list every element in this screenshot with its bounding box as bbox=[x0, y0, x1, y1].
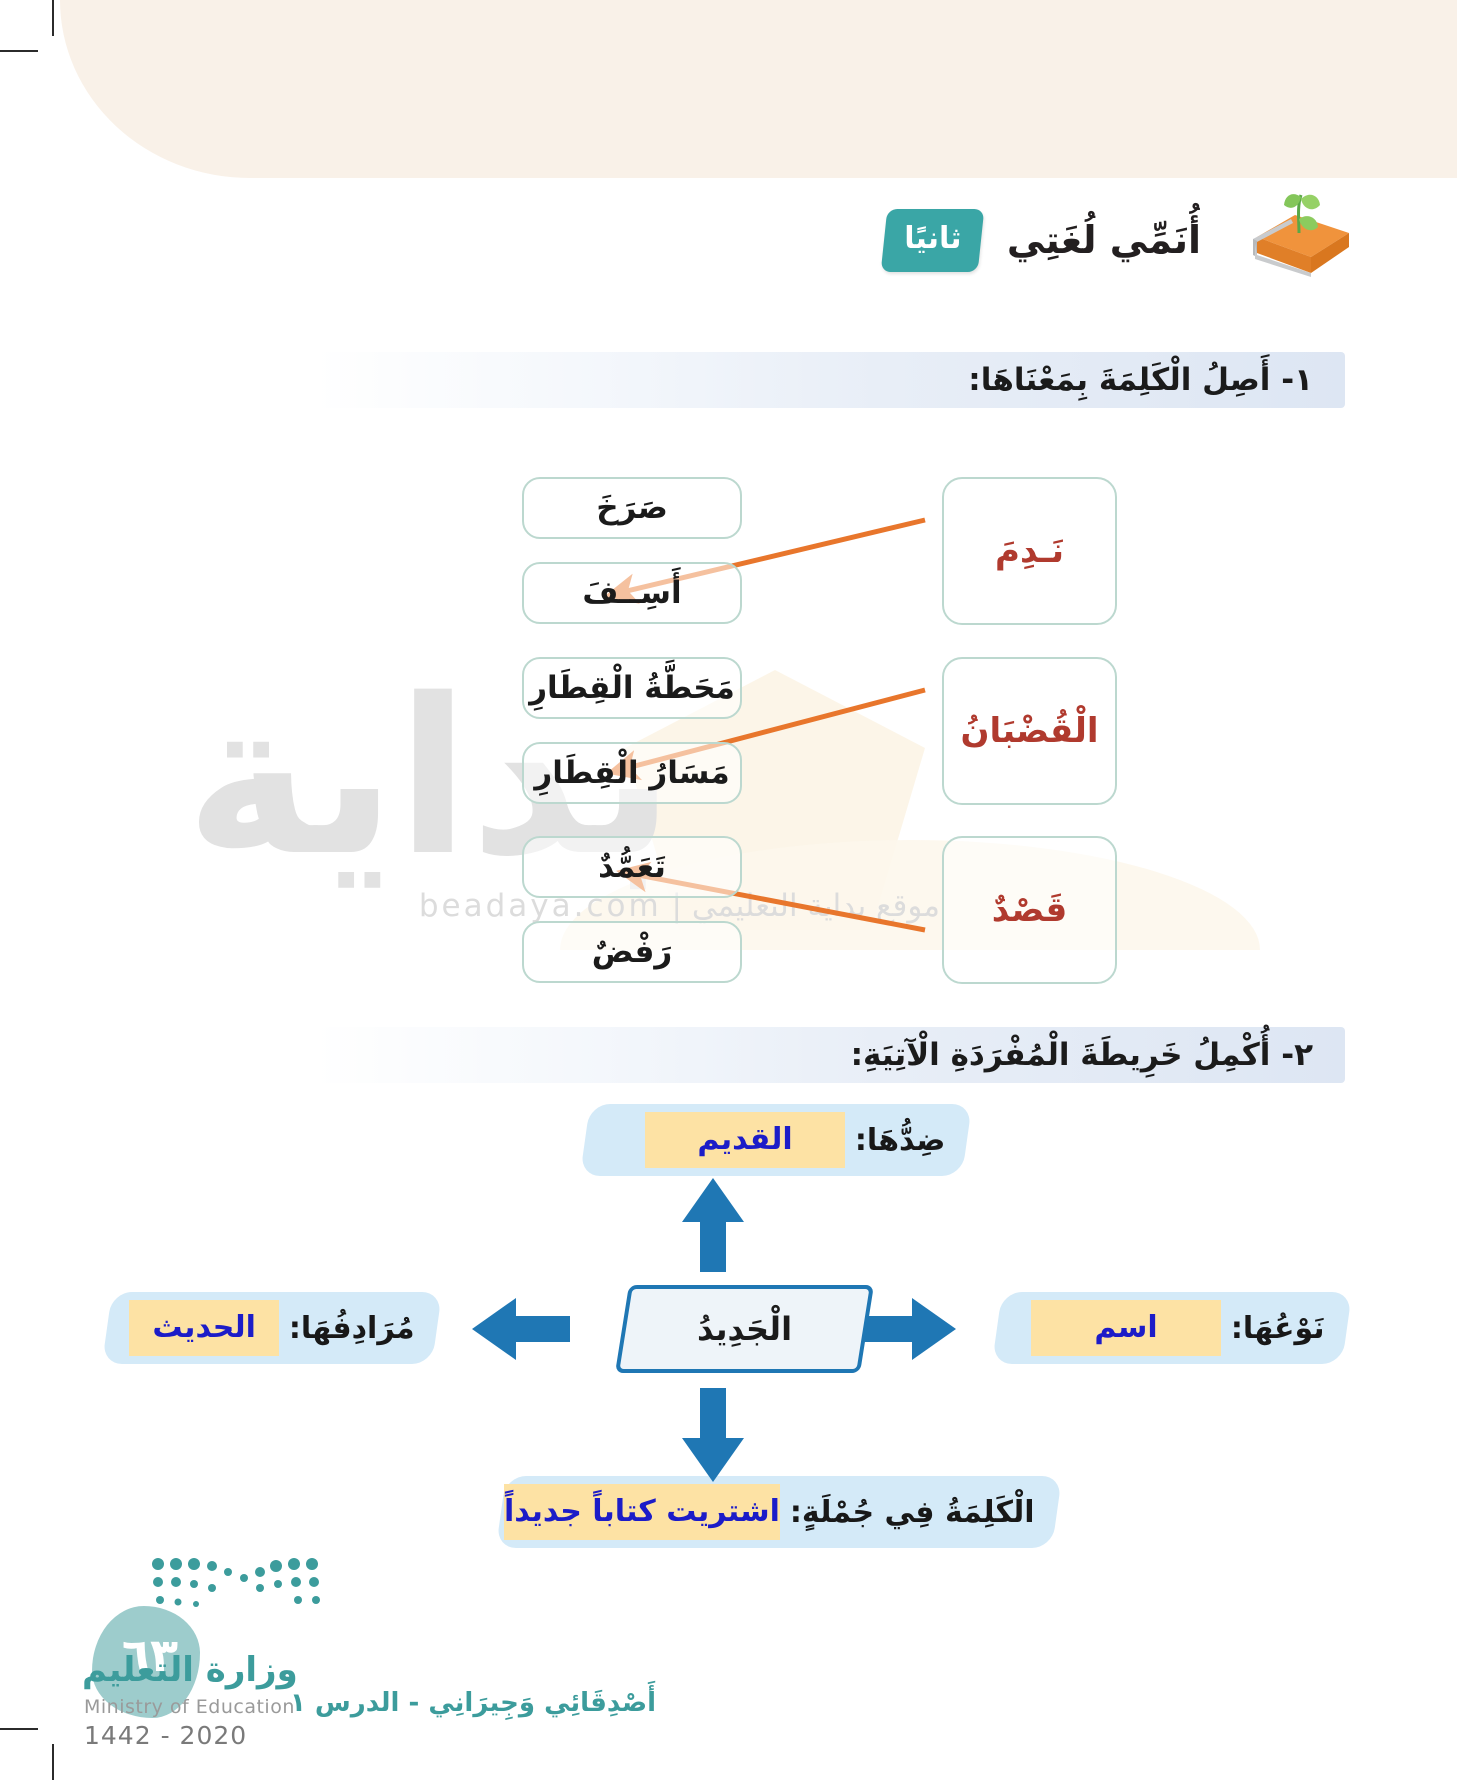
ministry-logo-dots-icon bbox=[150, 1556, 330, 1620]
book-with-sprout-icon bbox=[1227, 185, 1357, 295]
word-map-arrow-up bbox=[682, 1178, 744, 1272]
match-key-r2[interactable]: الْقُضْبَانُ bbox=[942, 657, 1117, 805]
ministry-name-arabic: وزارة التعليم bbox=[82, 1650, 298, 1690]
section-header: أُنَمِّي لُغَتِي ثانيًا bbox=[884, 185, 1357, 295]
word-map-arrow-left bbox=[472, 1298, 570, 1360]
ministry-name-english: Ministry of Education bbox=[84, 1696, 295, 1718]
match-option-r2-o2[interactable]: مَسَارُ الْقِطَارِ bbox=[522, 742, 742, 804]
word-map-arrow-down bbox=[682, 1388, 744, 1482]
word-map-arrow-right bbox=[860, 1298, 956, 1360]
word-map-center-node[interactable]: الْجَدِيدُ bbox=[615, 1285, 874, 1373]
crop-mark-top-left-horizontal bbox=[0, 50, 38, 52]
crop-mark-top-left-vertical bbox=[52, 0, 54, 36]
match-key-r1[interactable]: نَـدِمَ bbox=[942, 477, 1117, 625]
match-option-r3-o1[interactable]: تَعَمُّدٌ bbox=[522, 836, 742, 898]
crop-mark-bottom-left-horizontal bbox=[0, 1728, 38, 1730]
edition-year: 2020 - 1442 bbox=[84, 1721, 247, 1750]
match-option-r1-o2[interactable]: أَسِــفَ bbox=[522, 562, 742, 624]
question-1-bar: ١- أَصِلُ الْكَلِمَةَ بِمَعْنَاهَا: bbox=[315, 352, 1345, 408]
section-order-badge-label: ثانيًا bbox=[904, 221, 961, 256]
match-key-r3[interactable]: قَصْدٌ bbox=[942, 836, 1117, 984]
decorative-top-band bbox=[60, 0, 1457, 178]
lesson-breadcrumb: أَصْدِقَائِي وَجِيرَانِي - الدرس ١ bbox=[290, 1688, 656, 1718]
match-option-r1-o1[interactable]: صَرَخَ bbox=[522, 477, 742, 539]
crop-mark-bottom-left-vertical bbox=[52, 1744, 54, 1780]
question-2-text: ٢- أُكْمِلُ خَرِيطَةَ الْمُفْرَدَةِ الْآ… bbox=[851, 1037, 1313, 1073]
section-title: أُنَمِّي لُغَتِي bbox=[1007, 218, 1201, 262]
question-1-text: ١- أَصِلُ الْكَلِمَةَ بِمَعْنَاهَا: bbox=[968, 362, 1313, 398]
match-option-r2-o1[interactable]: مَحَطَّةُ الْقِطَارِ bbox=[522, 657, 742, 719]
section-order-badge: ثانيًا bbox=[880, 209, 984, 272]
page-footer: ٦٣ وزارة التعليم Ministry of Education 2… bbox=[0, 1530, 1457, 1780]
match-option-r3-o2[interactable]: رَفْضٌ bbox=[522, 921, 742, 983]
word-map-center-word: الْجَدِيدُ bbox=[697, 1310, 792, 1348]
question-2-bar: ٢- أُكْمِلُ خَرِيطَةَ الْمُفْرَدَةِ الْآ… bbox=[315, 1027, 1345, 1083]
